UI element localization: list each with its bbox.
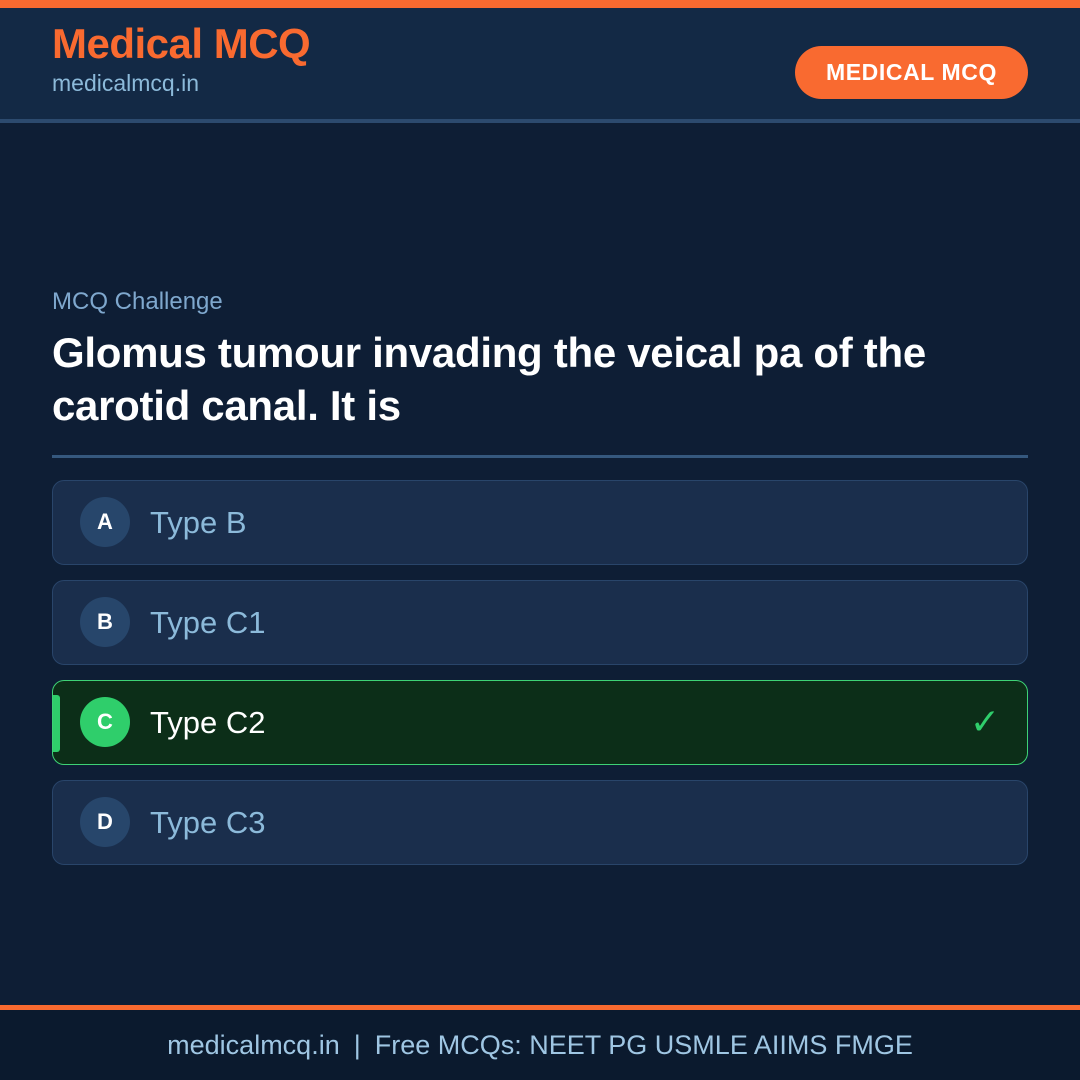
brand-subtitle: medicalmcq.in [52,70,310,98]
footer-separator: | [340,1030,375,1060]
brand-block: Medical MCQ medicalmcq.in [52,22,310,98]
question-text: Glomus tumour invading the veical pa of … [52,327,1028,433]
option-row-b[interactable]: B Type C1 ✓ [52,580,1028,665]
option-row-d[interactable]: D Type C3 ✓ [52,780,1028,865]
question-panel: MCQ Challenge Glomus tumour invading the… [52,288,1028,880]
options-list: A Type B ✓ B Type C1 ✓ C Type C2 ✓ D Typ… [52,480,1028,865]
option-label: Type B [150,507,247,538]
eyebrow-label: MCQ Challenge [52,288,1028,317]
option-letter-badge: B [80,597,130,647]
option-label: Type C3 [150,807,265,838]
option-row-a[interactable]: A Type B ✓ [52,480,1028,565]
footer-exams: NEET PG USMLE AIIMS FMGE [529,1030,913,1060]
option-label: Type C2 [150,707,265,738]
option-letter-badge: A [80,497,130,547]
footer-site: medicalmcq.in [167,1030,340,1060]
brand-title: Medical MCQ [52,22,310,66]
question-divider [52,455,1028,458]
page-footer: medicalmcq.in|Free MCQs: NEET PG USMLE A… [0,1010,1080,1080]
option-letter-badge: D [80,797,130,847]
top-accent-bar [0,0,1080,8]
footer-exams-label: Free MCQs: [375,1030,522,1060]
header-divider [0,119,1080,123]
option-label: Type C1 [150,607,265,638]
selected-accent-bar [53,695,60,752]
footer-text: medicalmcq.in|Free MCQs: NEET PG USMLE A… [167,1030,913,1061]
option-row-c[interactable]: C Type C2 ✓ [52,680,1028,765]
option-letter-badge: C [80,697,130,747]
page-header: Medical MCQ medicalmcq.in MEDICAL MCQ [0,8,1080,122]
brand-badge: MEDICAL MCQ [795,46,1028,99]
check-icon: ✓ [970,704,1000,740]
